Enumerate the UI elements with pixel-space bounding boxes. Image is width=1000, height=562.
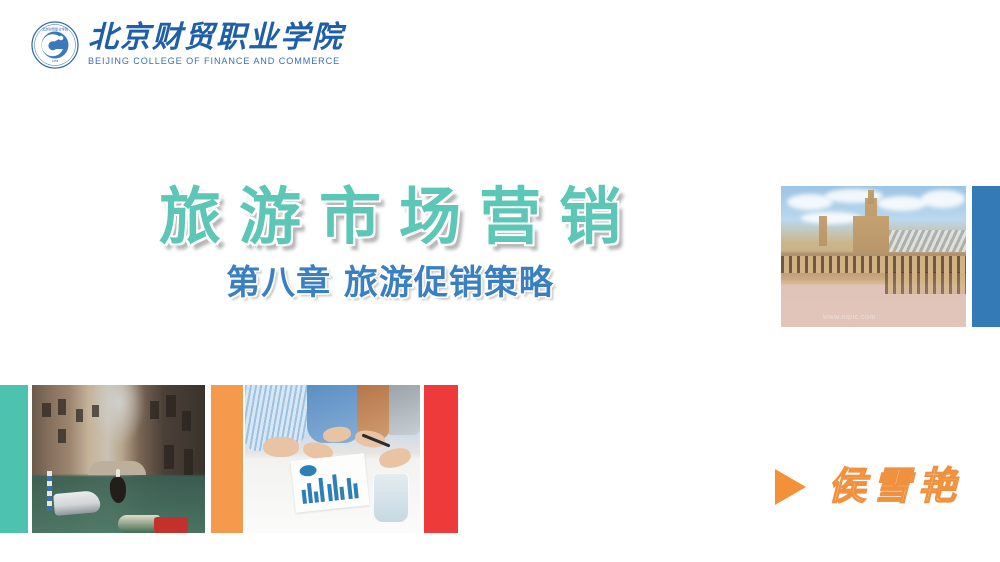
play-triangle-icon (775, 469, 806, 505)
svg-text:北京财贸职业学院: 北京财贸职业学院 (42, 27, 69, 32)
logo-name-en: BEIJING COLLEGE OF FINANCE AND COMMERCE (88, 56, 344, 66)
presenter-block: 侯雪艳 (775, 468, 963, 506)
title-group: 旅游市场营销 第八章 旅游促销策略 (0, 186, 780, 300)
photo-venice-canal (32, 385, 205, 533)
photo-watermark: www.nipic.com (823, 314, 876, 321)
logo-name-cn: 北京财贸职业学院 (88, 22, 344, 54)
accent-bar-red (424, 385, 458, 533)
course-title: 旅游市场营销 (0, 186, 780, 248)
chapter-subtitle: 第八章 旅游促销策略 (0, 266, 780, 300)
photo-business-meeting (245, 385, 420, 533)
svg-text:1958: 1958 (52, 59, 59, 63)
university-seal-icon: 北京财贸职业学院 1958 (30, 20, 80, 70)
accent-bar-blue (972, 186, 1000, 327)
presenter-name: 侯雪艳 (828, 468, 963, 506)
accent-bar-orange (211, 385, 243, 533)
institution-logo: 北京财贸职业学院 1958 北京财贸职业学院 BEIJING COLLEGE O… (30, 20, 344, 70)
accent-bar-teal (0, 385, 28, 533)
photo-plaza-de-espana: www.nipic.com (781, 186, 966, 327)
presentation-slide: 北京财贸职业学院 1958 北京财贸职业学院 BEIJING COLLEGE O… (0, 0, 1000, 562)
